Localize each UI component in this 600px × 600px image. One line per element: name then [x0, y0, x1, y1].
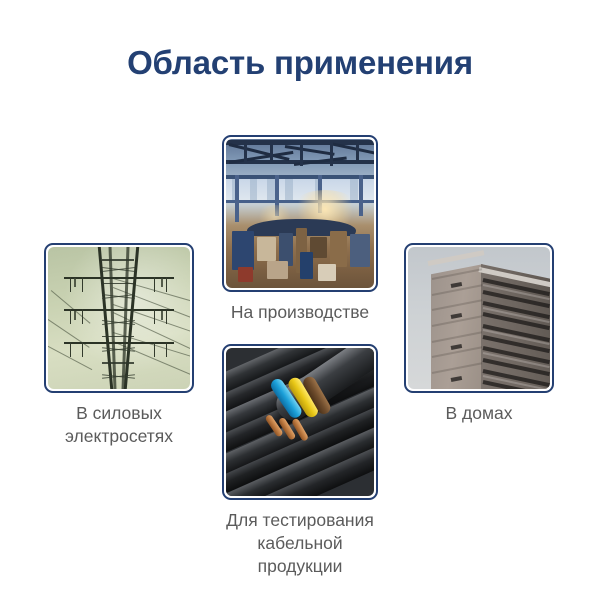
- machine-unit: [350, 234, 369, 267]
- window-mullion: [250, 179, 257, 200]
- crossarm-brace: [154, 342, 166, 357]
- photo-frame-factory: [222, 135, 378, 292]
- tower-rung: [102, 362, 134, 364]
- insulator: [74, 278, 76, 287]
- factory-interior-photo: [226, 139, 374, 288]
- page-title: Область применения: [0, 44, 600, 82]
- card-caption-homes: В домах: [404, 402, 554, 425]
- insulator: [74, 311, 76, 320]
- tower-rung: [102, 283, 134, 285]
- card-caption-power-grid: В силовых электросетях: [44, 402, 194, 448]
- photo-frame-homes: [404, 243, 554, 393]
- equipment-crate: [238, 267, 253, 282]
- card-homes: В домах: [404, 243, 554, 425]
- lattice-tower: [91, 247, 148, 389]
- crossarm-brace: [70, 342, 82, 357]
- machine-unit: [300, 252, 313, 279]
- machine-unit: [257, 237, 276, 261]
- insulator: [161, 278, 163, 287]
- tower-rung: [102, 259, 134, 261]
- pallet: [267, 261, 288, 279]
- crossarm-brace: [70, 277, 82, 292]
- power-cable-bundle-photo: [226, 348, 374, 496]
- roof-post: [300, 142, 303, 166]
- crane-gantry: [226, 175, 374, 179]
- card-caption-factory: На производстве: [222, 301, 378, 324]
- crossarm-brace: [70, 309, 82, 324]
- window-mullion: [285, 179, 292, 200]
- photo-frame-cable: [222, 344, 378, 500]
- support-column: [359, 175, 363, 217]
- apartment-building-photo: [408, 247, 550, 389]
- insulator: [161, 311, 163, 320]
- tower-rung: [102, 336, 134, 338]
- machine-unit: [330, 231, 348, 267]
- card-caption-cable-testing: Для тестирования кабельной продукции: [222, 509, 378, 578]
- pallet: [318, 264, 336, 280]
- machine-unit: [232, 231, 254, 270]
- card-power-grid: В силовых электросетях: [44, 243, 194, 448]
- roof-post: [244, 142, 247, 163]
- card-cable-testing: Для тестирования кабельной продукции: [222, 344, 378, 578]
- roof-post: [270, 142, 273, 164]
- card-factory: На производстве: [222, 135, 378, 324]
- support-column: [235, 175, 239, 223]
- roof-post: [356, 142, 359, 164]
- photo-frame-power-grid: [44, 243, 194, 393]
- roof-post: [330, 142, 333, 166]
- power-transmission-tower-photo: [48, 247, 190, 389]
- window-mullion: [267, 179, 274, 200]
